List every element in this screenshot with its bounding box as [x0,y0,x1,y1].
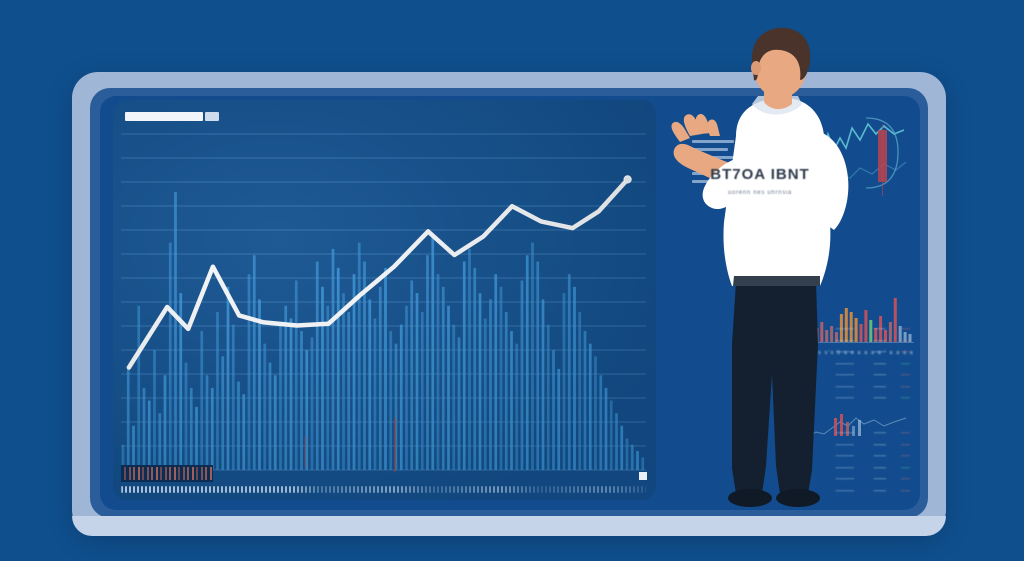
chart-canvas [113,100,656,500]
volume-tick [187,467,189,480]
volume-tick [129,467,131,480]
ticker-change: ––– [892,442,910,448]
main-chart-panel[interactable] [113,100,656,500]
trousers [732,282,818,494]
shoe-left [728,489,772,507]
chart-title-placeholder [125,112,203,121]
belt [733,276,820,286]
ear [751,61,761,75]
ticker-change: ––– [892,326,910,332]
ticker-change: ––– [892,384,910,390]
volume-tick [124,467,126,480]
chart-x-axis-labels [121,486,646,493]
volume-tick [201,467,203,480]
ticker-change: ––– [892,349,910,355]
chart-title-placeholder-accent [205,112,219,121]
chart-volume-bars [122,192,644,470]
shirt-torso [723,98,830,286]
ticker-change: ––– [892,453,910,459]
volume-tick [151,467,153,480]
ticker-change: ––– [892,372,910,378]
analyst-figure [640,24,880,524]
ticker-change: ––– [892,395,910,401]
ticker-change: ––– [892,476,910,482]
volume-tick [147,467,149,480]
volume-tick [138,467,140,480]
volume-tick [160,467,162,480]
volume-tick [205,467,207,480]
shoe-right [776,489,820,507]
ticker-change: ––– [892,488,910,494]
volume-tick [210,467,212,480]
volume-tick [142,467,144,480]
volume-tick [192,467,194,480]
volume-tick [183,467,185,480]
ticker-change: ––– [892,465,910,471]
ticker-change: ––– [892,338,910,344]
chart-endpoint-marker [624,176,631,183]
ticker-change: ––– [892,499,910,500]
volume-tick [169,467,171,480]
scene-root: 1711 's s's [0,0,1024,561]
volume-tick [196,467,198,480]
volume-tick [174,467,176,480]
ticker-change: ––– [892,361,910,367]
ticker-change: ––– [892,430,910,436]
volume-tick [178,467,180,480]
chart-trend-line [129,179,628,367]
volume-tick [165,467,167,480]
chart-volume-strip [121,465,213,482]
volume-tick [156,467,158,480]
volume-tick [133,467,135,480]
